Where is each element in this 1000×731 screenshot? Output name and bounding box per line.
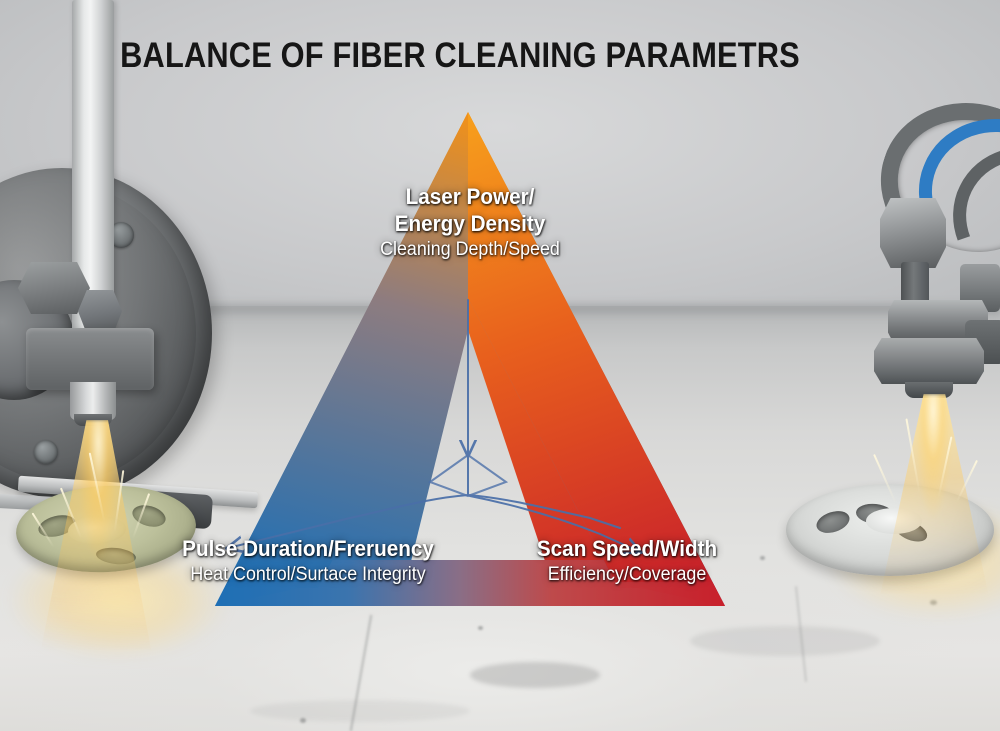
floor-scuff	[470, 662, 600, 688]
vertex-label-line1: Laser Power/	[310, 183, 630, 210]
vertex-sublabel: Cleaning Depth/Speed	[310, 237, 630, 262]
vertex-sublabel: Efficiency/Coverage	[519, 562, 735, 587]
page-title: BALANCE OF FIBER CLEANING PARAMETRS	[55, 36, 865, 76]
vertex-label-scan-speed: Scan Speed/Width Efficiency/Coverage	[512, 535, 742, 587]
vertex-sublabel: Heat Control/Surtace Integrity	[139, 562, 477, 587]
floor-speck	[300, 718, 306, 723]
infographic-canvas: BALANCE OF FIBER CLEANING PARAMETRS Lase…	[0, 0, 1000, 731]
vertex-label-line1: Pulse Duration/Freruency	[139, 535, 477, 562]
lower-hex-body	[874, 338, 984, 384]
nozzle-neck	[901, 262, 929, 306]
floor-scuff	[250, 700, 470, 722]
floor-speck	[760, 556, 765, 560]
floor-scuff	[690, 626, 880, 656]
workpiece-center-boss	[866, 508, 922, 534]
hex-nut	[18, 262, 90, 314]
upper-hex-fitting	[880, 198, 946, 268]
vertex-label-line1: Scan Speed/Width	[519, 535, 735, 562]
clamp-block	[26, 328, 154, 390]
vertex-label-laser-power: Laser Power/ Energy Density Cleaning Dep…	[300, 183, 640, 262]
vertex-label-pulse-duration: Pulse Duration/Freruency Heat Control/Su…	[128, 535, 488, 587]
bolt-icon	[34, 440, 58, 464]
floor-speck	[478, 626, 483, 630]
vertex-label-line2: Energy Density	[310, 210, 630, 237]
laser-tip	[905, 382, 953, 398]
laser-tip	[74, 414, 112, 426]
